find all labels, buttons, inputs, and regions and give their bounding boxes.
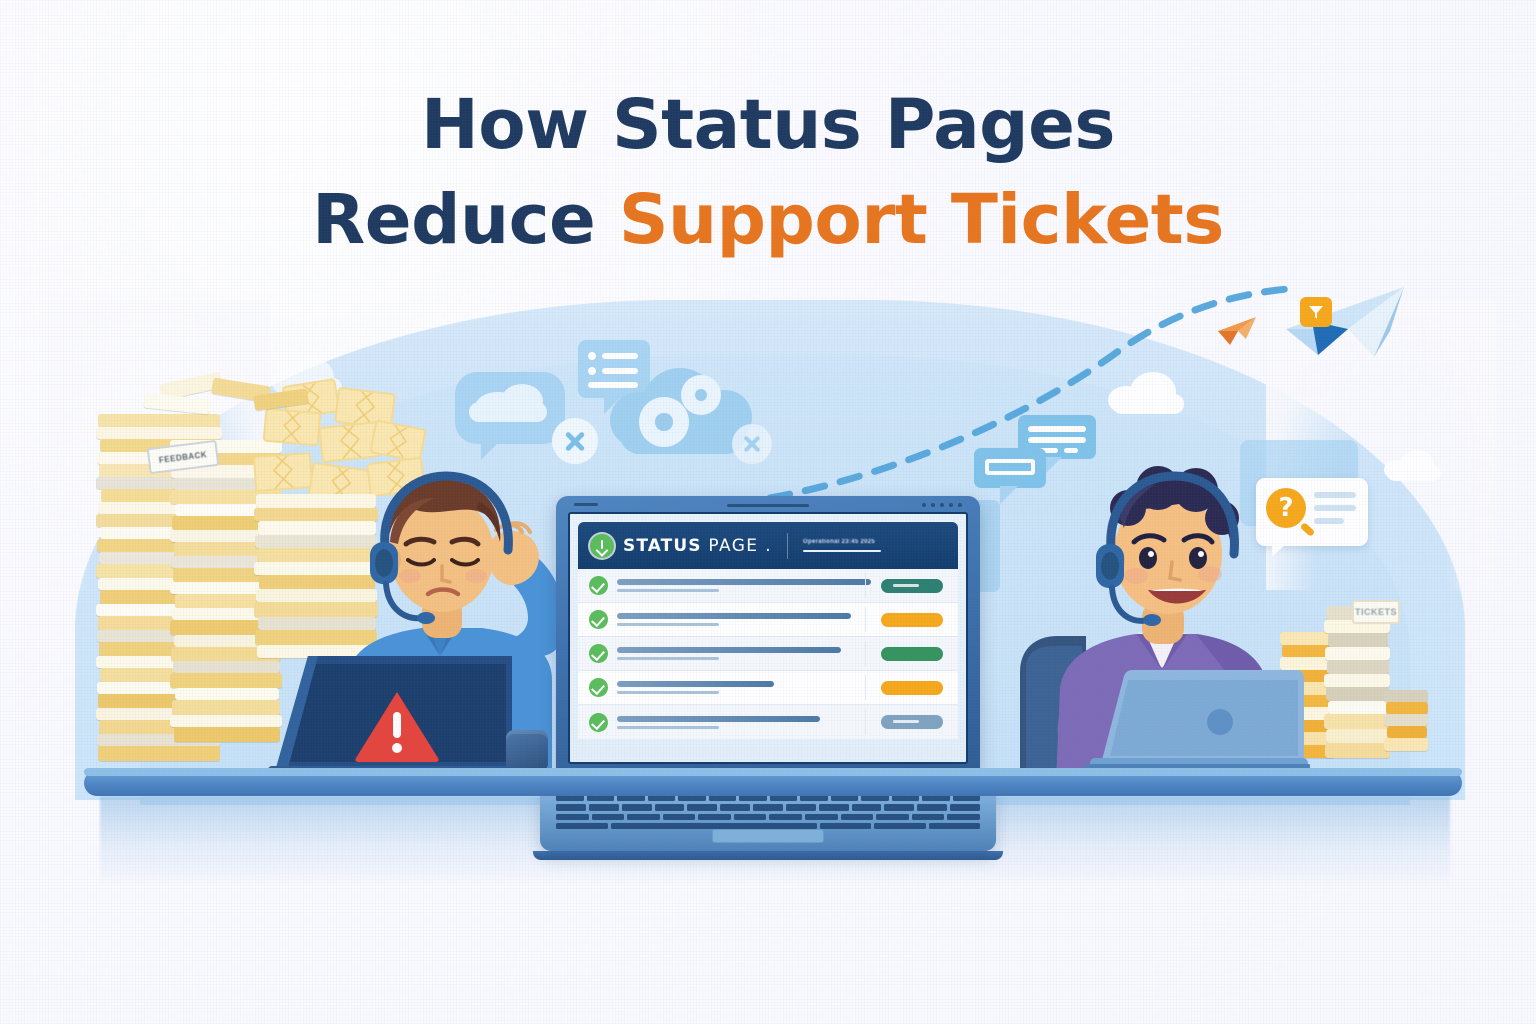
tickets-box-label: TICKETS [1352, 600, 1400, 624]
brand-light: PAGE . [702, 536, 772, 556]
send-badge-icon [1300, 297, 1332, 327]
agent-laptop [1070, 664, 1310, 779]
title-line-1: How Status Pages [0, 78, 1536, 173]
row-divider [865, 709, 866, 735]
laptop-base [540, 787, 996, 851]
meta-rule [803, 550, 881, 552]
page-title: How Status Pages Reduce Support Tickets [0, 78, 1536, 268]
status-page-meta: Operational 23:45 2025 [803, 539, 881, 552]
status-badge[interactable] [881, 681, 943, 695]
label-bar-primary [617, 647, 841, 653]
status-row-list [578, 569, 958, 739]
x-mark-icon [552, 418, 598, 464]
label-bar-secondary [617, 623, 719, 626]
label-bar-secondary [617, 726, 719, 729]
label-bar-primary [617, 579, 871, 585]
title-prefix: Reduce [312, 180, 619, 260]
status-page-brand: STATUS PAGE . [623, 536, 772, 556]
status-row-label [617, 647, 881, 660]
title-line-2: Reduce Support Tickets [0, 173, 1536, 268]
title-accent: Support Tickets [619, 180, 1224, 260]
warning-triangle-icon [354, 688, 440, 769]
laptop-keyboard[interactable] [556, 795, 980, 829]
row-divider [865, 641, 866, 666]
bezel-indicator-left [574, 503, 598, 506]
orange-trail-icon [1216, 309, 1272, 354]
check-circle-icon [589, 678, 608, 697]
status-row[interactable] [578, 671, 958, 705]
label-bar-primary [617, 716, 820, 722]
status-badge[interactable] [881, 579, 943, 593]
status-badge[interactable] [881, 647, 943, 661]
brand-bold: STATUS [623, 536, 702, 556]
check-circle-icon [589, 576, 608, 595]
keyboard-row [556, 814, 980, 820]
label-bar-primary [617, 613, 851, 619]
row-divider [865, 573, 866, 598]
status-badge[interactable] [881, 613, 943, 627]
desk-speaker-device [506, 730, 548, 770]
status-row[interactable] [578, 637, 958, 671]
keyboard-row [556, 804, 980, 810]
status-row-label [617, 716, 881, 729]
alert-laptop [268, 648, 520, 781]
row-divider [865, 607, 866, 632]
illustration-canvas: ? [0, 0, 1536, 1024]
status-badge[interactable] [881, 715, 943, 729]
label-bar-secondary [617, 589, 719, 592]
status-row[interactable] [578, 569, 958, 603]
status-row-label [617, 579, 881, 592]
bezel-camera-bar [727, 504, 809, 507]
status-page-header: STATUS PAGE . Operational 23:45 2025 [578, 522, 958, 569]
laptop-trackpad[interactable] [712, 829, 824, 843]
download-circle-icon [590, 534, 614, 558]
check-circle-icon [589, 644, 608, 663]
status-row[interactable] [578, 603, 958, 637]
paper-plane-icon [1278, 285, 1410, 378]
status-page-screen[interactable]: STATUS PAGE . Operational 23:45 2025 [568, 512, 968, 764]
check-circle-icon [589, 610, 608, 629]
desk-edge [84, 768, 1462, 776]
status-row[interactable] [578, 705, 958, 739]
status-row-label [617, 613, 881, 626]
status-page-laptop[interactable]: STATUS PAGE . Operational 23:45 2025 [556, 496, 980, 860]
row-divider [865, 675, 866, 700]
status-row-label [617, 681, 881, 694]
check-circle-icon [589, 713, 608, 732]
header-divider [787, 533, 788, 559]
label-bar-primary [617, 681, 774, 687]
label-bar-secondary [617, 657, 719, 660]
laptop-lid: STATUS PAGE . Operational 23:45 2025 [556, 496, 980, 774]
bezel-indicator-dots [922, 503, 962, 507]
meta-text: Operational 23:45 2025 [803, 539, 875, 545]
label-bar-secondary [617, 691, 719, 694]
laptop-base-foot [533, 851, 1003, 860]
